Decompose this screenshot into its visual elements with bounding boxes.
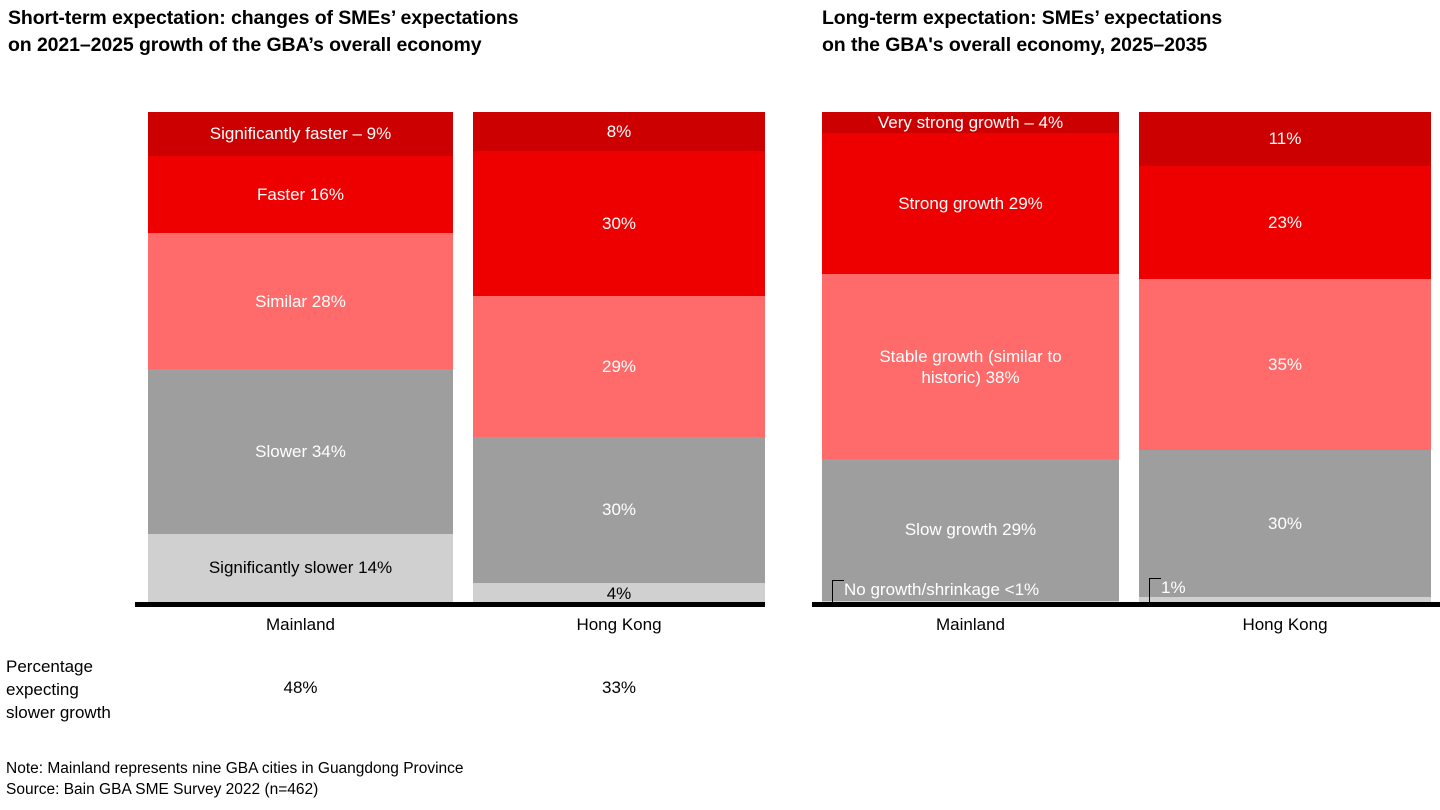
bar-segment-label: Very strong growth – 4%: [874, 112, 1067, 133]
bar-segment-label: Slow growth 29%: [901, 519, 1040, 540]
bar-segment-label: 30%: [598, 213, 640, 234]
bar-segment: 8%: [473, 112, 765, 151]
bar-segment-label: Faster 16%: [253, 184, 348, 205]
bar-segment-label: 1%: [1161, 577, 1186, 598]
bar-segment-label: Significantly slower 14%: [205, 557, 396, 578]
bar-segment-label: Strong growth 29%: [894, 193, 1047, 214]
footer-value-hongkong: 33%: [473, 678, 765, 698]
bar-segment: Significantly faster – 9%: [148, 112, 453, 156]
leader-line-icon: [832, 580, 844, 604]
bar-segment-label: 23%: [1264, 212, 1306, 233]
stacked-bar-mainland-long-term: Very strong growth – 4%Strong growth 29%…: [822, 112, 1119, 602]
leader-line-icon: [1149, 578, 1161, 602]
chart-title-long-term: Long-term expectation: SMEs’ expectation…: [822, 5, 1432, 59]
x-label-mainland-long-term: Mainland: [822, 615, 1119, 635]
bar-segment: Faster 16%: [148, 156, 453, 234]
bar-segment: 30%: [473, 437, 765, 583]
x-label-hongkong-long-term: Hong Kong: [1139, 615, 1431, 635]
bar-segment: Similar 28%: [148, 233, 453, 369]
bar-segment: 35%: [1139, 279, 1431, 451]
stacked-bar-hongkong-short-term: 8%30%29%30%4%: [473, 112, 765, 602]
bar-segment-label: 35%: [1264, 354, 1306, 375]
bar-segment: 4%: [473, 583, 765, 604]
bar-segment: 30%: [473, 151, 765, 297]
bar-segment-label: 11%: [1265, 128, 1306, 149]
bar-segment: Strong growth 29%: [822, 133, 1119, 274]
chart-page: Short-term expectation: changes of SMEs’…: [0, 0, 1440, 810]
bar-segment: Stable growth (similar to historic) 38%: [822, 274, 1119, 459]
footer-value-mainland: 48%: [148, 678, 453, 698]
footnote-block: Note: Mainland represents nine GBA citie…: [6, 758, 464, 800]
footer-row-label: Percentage expecting slower growth: [6, 655, 136, 724]
bar-segment-label: Significantly faster – 9%: [206, 123, 395, 144]
bar-segment-label: 4%: [603, 583, 636, 604]
bar-segment-label: Similar 28%: [251, 291, 350, 312]
chart-title-short-term: Short-term expectation: changes of SMEs’…: [8, 5, 768, 59]
stacked-bar-mainland-short-term: Significantly faster – 9%Faster 16%Simil…: [148, 112, 453, 602]
x-axis-line-long-term: [812, 602, 1440, 607]
chart-panel-long-term: Long-term expectation: SMEs’ expectation…: [800, 0, 1440, 810]
bar-segment: 30%: [1139, 450, 1431, 597]
x-label-mainland-short-term: Mainland: [148, 615, 453, 635]
bar-segment: Very strong growth – 4%: [822, 112, 1119, 133]
bar-segment-label: 30%: [1264, 513, 1306, 534]
bar-segment-label: No growth/shrinkage <1%: [844, 579, 1039, 600]
bar-segment: 23%: [1139, 166, 1431, 279]
bar-segment: Slower 34%: [148, 369, 453, 534]
stacked-bar-hongkong-long-term: 11%23%35%30%1%: [1139, 112, 1431, 602]
x-label-hongkong-short-term: Hong Kong: [473, 615, 765, 635]
x-axis-line-short-term: [135, 602, 765, 607]
bar-segment-label: 8%: [603, 121, 636, 142]
bar-segment: 11%: [1139, 112, 1431, 166]
bar-segment-label: Slower 34%: [251, 441, 350, 462]
bar-segment: Significantly slower 14%: [148, 534, 453, 602]
bar-segment-label: 30%: [598, 499, 640, 520]
chart-panel-short-term: Short-term expectation: changes of SMEs’…: [0, 0, 800, 810]
bar-segment-label: Stable growth (similar to historic) 38%: [875, 346, 1065, 388]
bar-segment-label: 29%: [598, 356, 640, 377]
bar-segment: 29%: [473, 296, 765, 437]
